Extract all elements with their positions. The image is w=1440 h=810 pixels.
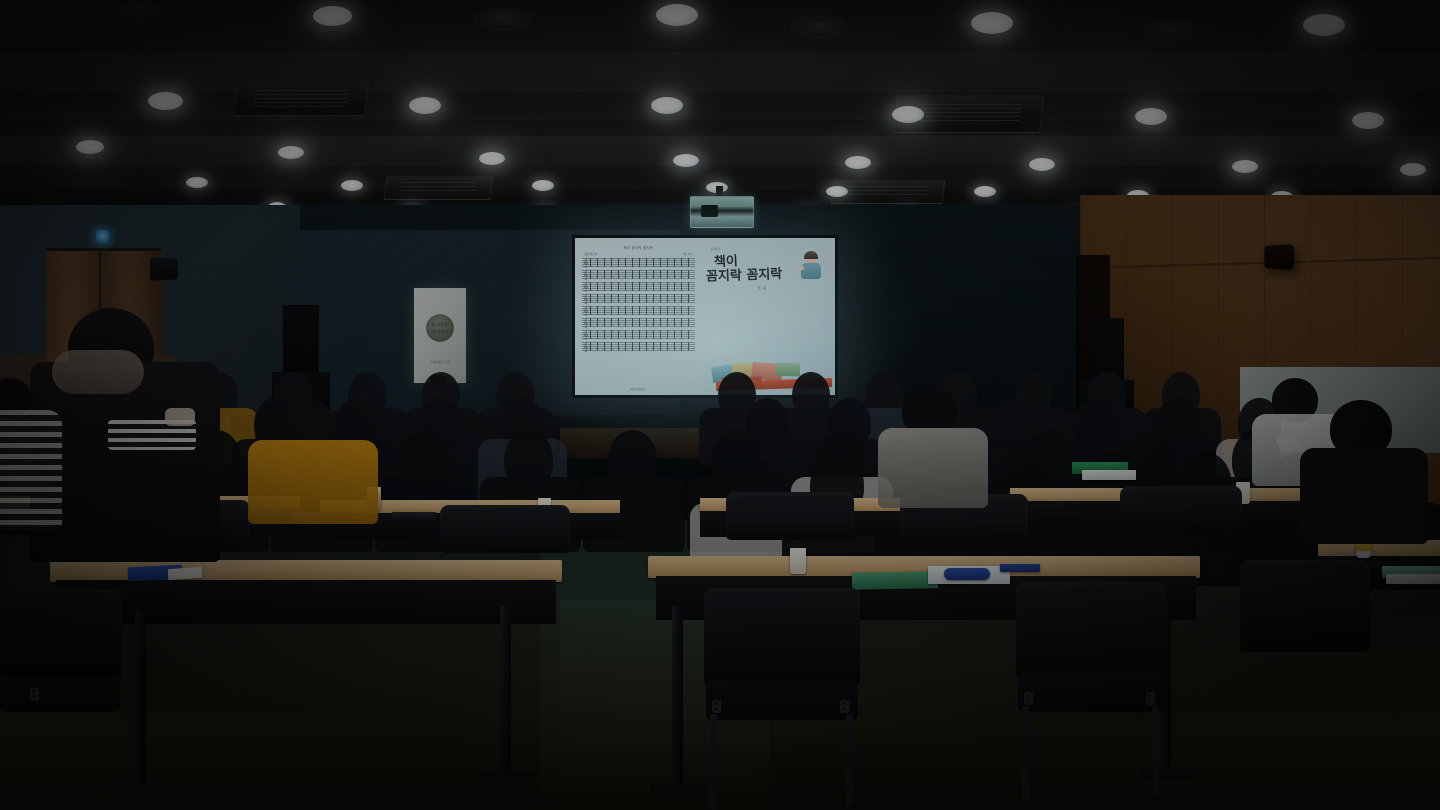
ceiling-light	[186, 177, 208, 188]
banner-line2: 책 이야기	[414, 329, 466, 335]
hand	[165, 408, 195, 426]
ceiling-light	[892, 106, 924, 123]
paper-cup	[790, 548, 806, 574]
ceiling-light-off	[791, 16, 847, 38]
roll-up-banner: 도서관과 책 이야기 독서문화프로그램	[414, 288, 466, 383]
blue-object	[944, 568, 990, 580]
green-notebook	[852, 571, 938, 589]
binder	[392, 512, 436, 522]
fur-hood	[52, 350, 144, 394]
music-staff: 𝄞	[582, 341, 695, 352]
projection-screen: 책이 꼼지락 꼼지락 보통 빠르게 작사 작곡 𝄞𝄞𝄞𝄞𝄞𝄞𝄞𝄞 한국도서관협회…	[575, 238, 835, 395]
score-meta-left: 보통 빠르게	[584, 252, 597, 256]
ceiling-light	[532, 180, 554, 191]
paper-sheet	[1386, 574, 1440, 584]
score-footer: 한국도서관협회	[575, 387, 700, 391]
ceiling-light	[278, 146, 304, 159]
desk-foot	[1140, 768, 1194, 781]
slide-content: 책이 꼼지락 꼼지락 보통 빠르게 작사 작곡 𝄞𝄞𝄞𝄞𝄞𝄞𝄞𝄞 한국도서관협회…	[575, 238, 835, 395]
chair-back	[1240, 560, 1370, 652]
ceiling-light	[313, 6, 352, 26]
music-staff: 𝄞	[582, 293, 695, 304]
paper-sheet	[1082, 470, 1136, 480]
desk-foot	[650, 784, 706, 798]
ceiling-light	[971, 12, 1013, 34]
ceiling-vent	[384, 176, 494, 200]
chair-back	[1120, 486, 1242, 532]
projector-lens	[701, 205, 718, 217]
chair-back	[440, 505, 570, 553]
ceiling-light	[1029, 158, 1055, 171]
left-wall-speaker-icon	[150, 257, 178, 281]
score-meta-right: 작사 작곡	[683, 252, 693, 256]
music-staff: 𝄞	[582, 305, 695, 316]
paper-sheet	[168, 567, 203, 580]
ceiling-light	[409, 97, 441, 114]
ceiling-light	[479, 152, 505, 165]
ceiling-light	[974, 186, 996, 197]
music-staff: 𝄞	[582, 257, 695, 268]
ceiling-light-off	[474, 8, 532, 30]
ceiling-light	[1352, 112, 1384, 129]
banner-line1: 도서관과	[414, 322, 466, 328]
music-staves: 𝄞𝄞𝄞𝄞𝄞𝄞𝄞𝄞	[582, 257, 695, 352]
exit-sign-icon	[96, 230, 109, 243]
ceiling-light	[148, 92, 183, 110]
right-wall-speaker-icon	[1264, 244, 1293, 270]
slide-kicker: 노래가	[711, 247, 720, 251]
music-staff: 𝄞	[582, 317, 695, 328]
ceiling-light	[1232, 160, 1258, 173]
chair-back	[726, 492, 854, 540]
desk-foot	[478, 770, 536, 783]
photo-scene: 책이 꼼지락 꼼지락 보통 빠르게 작사 작곡 𝄞𝄞𝄞𝄞𝄞𝄞𝄞𝄞 한국도서관협회…	[0, 0, 1440, 810]
banner-footer: 독서문화프로그램	[414, 360, 466, 364]
ceiling-light	[656, 4, 698, 26]
ceiling-light	[673, 154, 699, 167]
slide-subtitle: 글 그림	[758, 286, 767, 290]
ceiling-vent	[233, 82, 369, 116]
ceiling-light	[1303, 14, 1345, 36]
desk-front-left	[50, 560, 562, 582]
ceiling-light	[76, 140, 104, 154]
desk-leg	[500, 606, 511, 781]
ceiling-light	[826, 186, 848, 197]
slide-sheet-music: 책이 꼼지락 꼼지락 보통 빠르게 작사 작곡 𝄞𝄞𝄞𝄞𝄞𝄞𝄞𝄞 한국도서관협회	[575, 238, 700, 395]
music-staff: 𝄞	[582, 281, 695, 292]
score-title: 책이 꼼지락 꼼지락	[582, 245, 695, 250]
ceiling-light	[1400, 163, 1426, 176]
score-meta: 보통 빠르게 작사 작곡	[582, 252, 695, 256]
ceiling-light	[845, 156, 871, 169]
banner-logo	[426, 314, 454, 342]
desk-leg	[672, 606, 683, 796]
ceiling-light	[341, 180, 363, 191]
ceiling-light	[651, 97, 683, 114]
ceiling-light-off	[112, 1, 168, 23]
slide-child-illustration	[801, 251, 821, 279]
music-staff: 𝄞	[582, 329, 695, 340]
slide-title: 책이 꼼지락 꼼지락	[706, 254, 802, 282]
ceiling-light-off	[1145, 20, 1195, 40]
desk-foot	[104, 782, 166, 796]
blue-notebook	[1000, 564, 1040, 572]
slide-title-line2: 꼼지락 꼼지락	[706, 267, 802, 284]
desk-leg	[135, 610, 146, 795]
music-staff: 𝄞	[582, 269, 695, 280]
projector-icon	[690, 196, 754, 228]
ceiling-light	[1135, 108, 1167, 125]
desk-front-left-apron	[56, 580, 556, 624]
